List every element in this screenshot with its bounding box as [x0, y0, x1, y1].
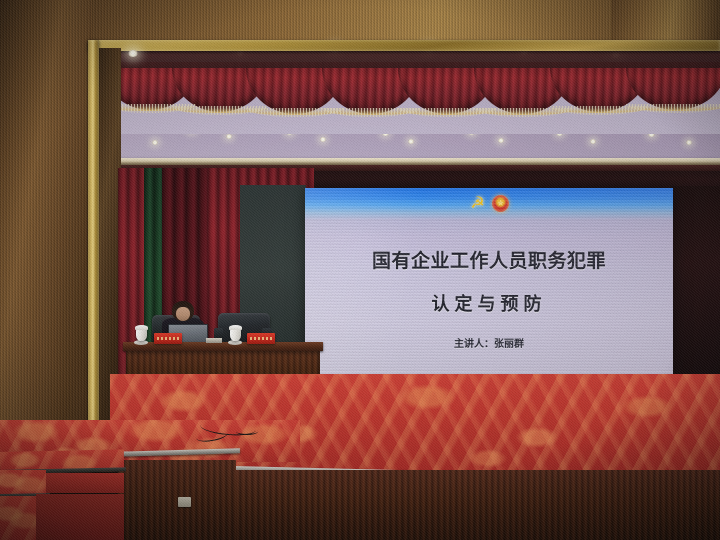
projection-screen: ☭ ★ 国有企业工作人员职务犯罪 认定与预防 主讲人：张丽群 — [305, 188, 673, 376]
slide-title-line-2: 认定与预防 — [305, 290, 673, 316]
swag-curtain — [626, 62, 720, 110]
gold-proscenium-frame-top — [88, 40, 720, 51]
teacup-left-lid — [135, 325, 148, 330]
slide-title-line-1: 国有企业工作人员职务犯罪 — [305, 246, 673, 273]
recessed-ceiling-spotlight — [408, 139, 414, 144]
recessed-ceiling-spotlight — [590, 139, 596, 144]
slide-emblem-group: ☭ ★ — [305, 195, 673, 212]
dark-wood-stage-apron-left — [118, 460, 236, 540]
red-nameplate-right — [247, 333, 275, 344]
national-emblem-icon: ★ — [492, 195, 509, 212]
step-riser-lower — [36, 494, 124, 540]
recessed-ceiling-spotlight — [320, 137, 326, 142]
wall-outlet-plate[interactable] — [178, 497, 191, 507]
slide-presenter-label: 主讲人：张丽群 — [305, 335, 673, 350]
carpeted-stage-step-lower — [0, 470, 46, 496]
cpc-hammer-sickle-icon: ☭ — [469, 195, 486, 212]
proscenium-spotlight — [128, 50, 138, 57]
recessed-ceiling-spotlight — [226, 134, 232, 139]
recessed-ceiling-spotlight — [686, 140, 692, 145]
auditorium-photo-scene: ☭ ★ 国有企业工作人员职务犯罪 认定与预防 主讲人：张丽群 — [0, 0, 720, 540]
speaker-desk-top — [123, 342, 323, 351]
desk-document — [206, 338, 222, 343]
recessed-ceiling-spotlight — [152, 140, 158, 145]
carpeted-stage-step-bottom — [0, 496, 40, 540]
teacup-right-lid — [229, 325, 242, 330]
screen-right-dark-backdrop — [670, 186, 720, 381]
dark-wood-stage-apron — [228, 470, 720, 540]
recessed-ceiling-spotlight — [498, 138, 504, 143]
seated-female-speaker-face — [176, 307, 190, 321]
red-nameplate-left — [154, 333, 182, 344]
valance-group — [110, 62, 720, 134]
valance-fringe — [626, 104, 720, 113]
gold-proscenium-frame-left — [88, 40, 99, 470]
floor-cable — [236, 428, 258, 435]
wood-panel-wall-right — [612, 0, 720, 42]
cream-cornice — [110, 158, 720, 165]
